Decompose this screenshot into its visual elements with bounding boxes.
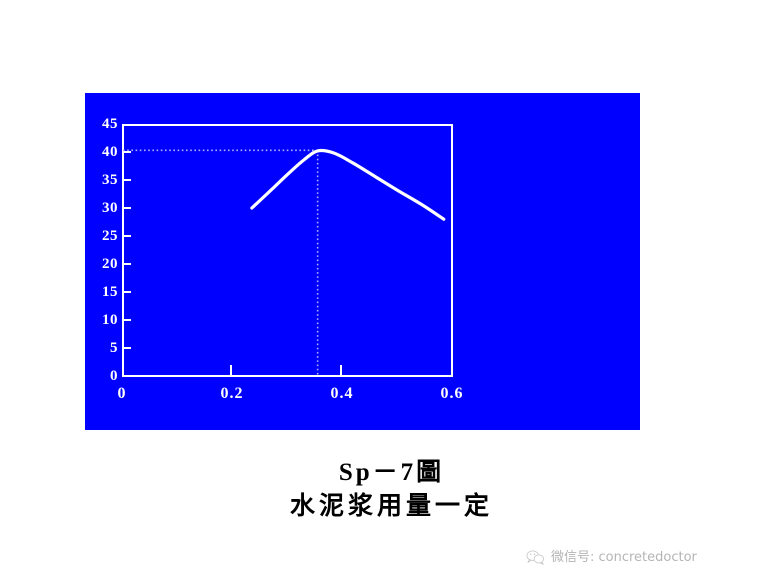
- peak-guide-lines: [123, 150, 318, 377]
- wechat-eye-left: [530, 553, 531, 554]
- x-axis-ticks: [231, 365, 341, 376]
- watermark: 微信号: concretedoctor: [526, 549, 697, 566]
- wechat-eye-right: [534, 553, 535, 554]
- data-curve: [252, 150, 444, 219]
- watermark-text: 微信号: concretedoctor: [551, 550, 697, 566]
- x-axis-tick-labels: 0 0.2 0.4 0.6: [85, 385, 640, 411]
- x-tick-label-0: 0: [92, 385, 152, 403]
- caption-block: Sp－7圖 水泥浆用量一定: [0, 458, 783, 522]
- x-tick-label-0.4: 0.4: [312, 385, 372, 403]
- x-tick-label-0.6: 0.6: [422, 385, 482, 403]
- figure-title: Sp－7圖: [0, 458, 783, 488]
- plot-drawing: [85, 93, 640, 430]
- x-tick-label-0.2: 0.2: [202, 385, 262, 403]
- wechat-icon: [526, 549, 545, 566]
- figure-subtitle: 水泥浆用量一定: [0, 490, 783, 522]
- y-axis-ticks: [123, 152, 131, 348]
- chart-panel: 45 40 35 30 25 20 15 10 5 0: [85, 93, 640, 430]
